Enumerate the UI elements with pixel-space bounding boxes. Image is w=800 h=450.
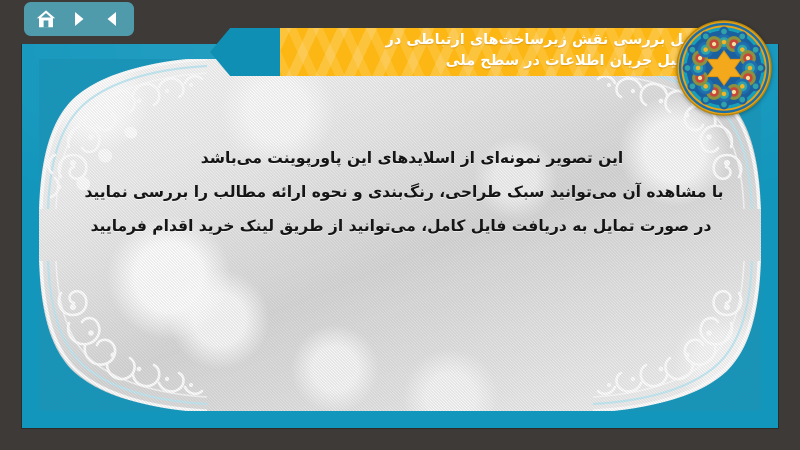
forward-button[interactable] <box>66 6 92 32</box>
home-icon <box>35 8 57 30</box>
slide-body-text: این تصویر نمونه‌ای از اسلایدهای این پاور… <box>39 141 761 243</box>
navigation-controls <box>24 2 134 36</box>
slide-viewer: این تصویر نمونه‌ای از اسلایدهای این پاور… <box>0 0 800 450</box>
banner-title: کامل بررسی نقش زیرساخت‌های ارتباطی در تس… <box>280 28 720 72</box>
slide-body-line-2: با مشاهده آن می‌توانید سبک طراحی، رنگ‌بن… <box>39 175 761 209</box>
slide-body-line-1: این تصویر نمونه‌ای از اسلایدهای این پاور… <box>39 141 761 175</box>
banner-title-line-1: کامل بررسی نقش زیرساخت‌های ارتباطی در <box>290 30 706 51</box>
title-banner: کامل بررسی نقش زیرساخت‌های ارتباطی در تس… <box>280 28 720 76</box>
slide-frame: این تصویر نمونه‌ای از اسلایدهای این پاور… <box>22 44 778 428</box>
arabesque-corner-ornament-icon <box>593 261 761 411</box>
arabesque-corner-ornament-icon <box>39 261 207 411</box>
home-button[interactable] <box>33 6 59 32</box>
banner-title-line-2: تسهیل جریان اطلاعات در سطح ملی <box>290 51 706 72</box>
back-button[interactable] <box>99 6 125 32</box>
slide-content-area: این تصویر نمونه‌ای از اسلایدهای این پاور… <box>39 59 761 411</box>
triangle-right-icon <box>69 9 89 29</box>
persian-tile-medallion-icon <box>676 20 772 116</box>
slide-body-line-3: در صورت تمایل به دریافت فایل کامل، می‌تو… <box>39 209 761 243</box>
triangle-left-icon <box>102 9 122 29</box>
